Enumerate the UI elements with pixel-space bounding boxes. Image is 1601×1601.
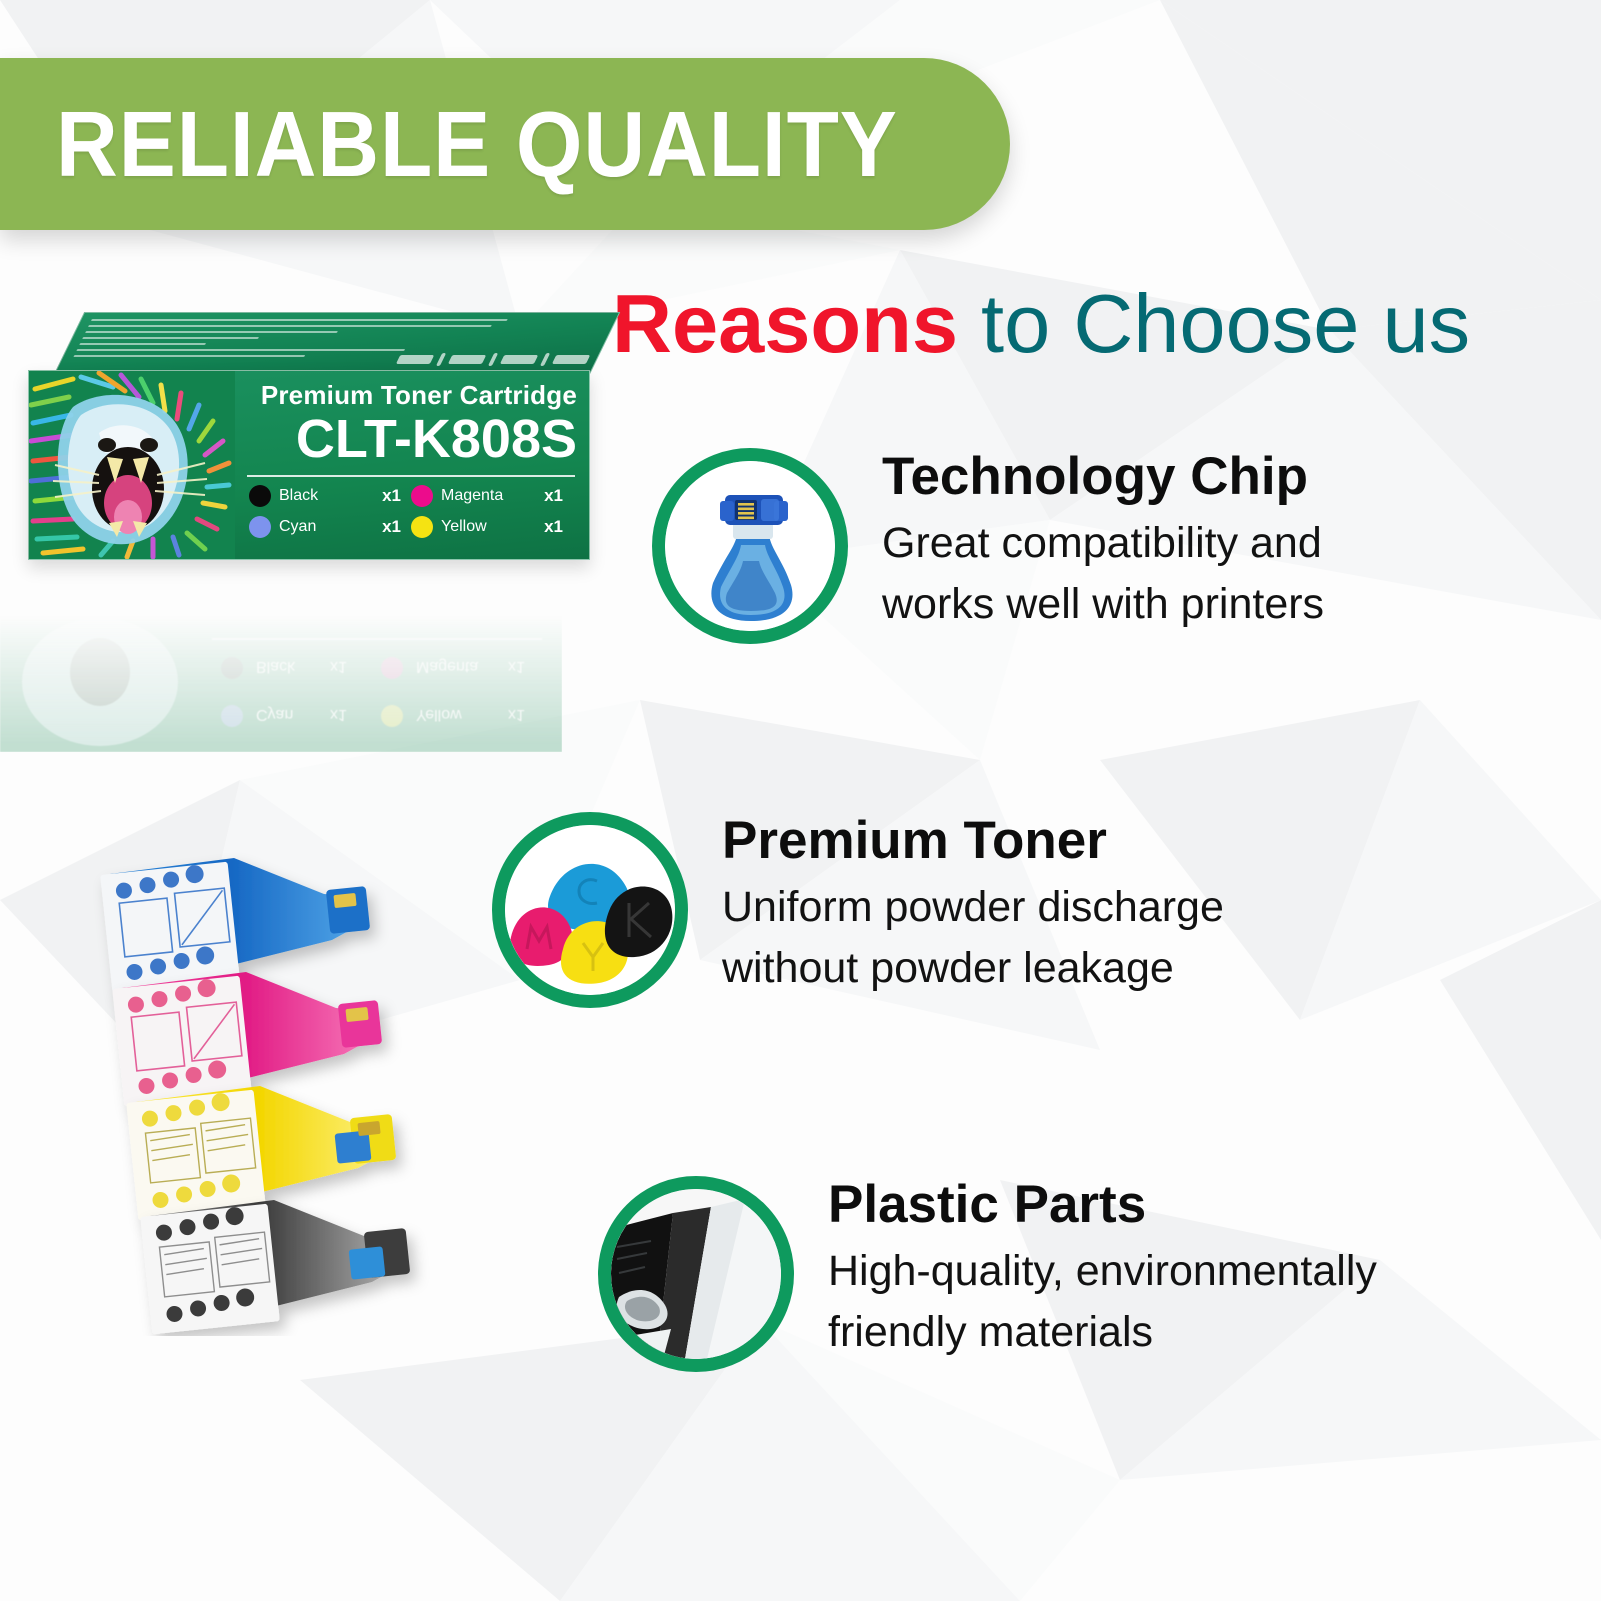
feature-plastic-parts: Plastic Parts High-quality, environmenta…: [598, 1176, 1377, 1372]
feature-description: Uniform powder discharge without powder …: [722, 877, 1224, 999]
bottle-cyan: [100, 858, 370, 992]
reliable-quality-banner: RELIABLE QUALITY: [0, 58, 1010, 230]
feature-desc-line: without powder leakage: [722, 938, 1224, 999]
swatch-item: Cyan x1: [249, 516, 411, 538]
feature-desc-line: High-quality, environmentally: [828, 1241, 1377, 1302]
color-name: Black: [279, 487, 318, 505]
swatch-item: Yellow x1: [411, 516, 573, 538]
box-color-list: Black x1 Magenta x1 Cyan x1: [245, 485, 577, 538]
feature-technology-chip: Technology Chip Great compatibility and …: [652, 448, 1324, 644]
swatch-item: Black x1: [249, 485, 411, 507]
banner-label: RELIABLE QUALITY: [56, 91, 898, 198]
box-text-area: Premium Toner Cartridge CLT-K808S Black …: [237, 371, 589, 559]
swatch-item: Magenta x1: [411, 485, 573, 507]
toner-bottles-photo: [86, 836, 486, 1336]
bottle-black: [140, 1200, 410, 1334]
promo-page: RELIABLE QUALITY Reasons to Choose us: [0, 0, 1601, 1601]
color-qty: x1: [544, 517, 573, 537]
color-dot-black: [249, 485, 271, 507]
color-name: Yellow: [441, 518, 487, 536]
color-dot-cyan: [249, 516, 271, 538]
feature-desc-line: works well with printers: [882, 574, 1324, 635]
page-title: Reasons to Choose us: [612, 282, 1470, 365]
cmyk-powder-icon: [492, 812, 688, 1008]
title-highlight: Reasons: [612, 277, 958, 370]
feature-desc-line: Great compatibility and: [882, 513, 1324, 574]
banner-shape: RELIABLE QUALITY: [0, 58, 1010, 230]
plastic-parts-icon: [598, 1176, 794, 1372]
feature-description: High-quality, environmentally friendly m…: [828, 1241, 1377, 1363]
toner-chip-icon: [652, 448, 848, 644]
feature-desc-line: friendly materials: [828, 1302, 1377, 1363]
product-box-image: Premium Toner Cartridge CLT-K808S Black …: [28, 312, 590, 602]
feature-premium-toner: Premium Toner Uniform powder discharge w…: [492, 812, 1224, 1008]
box-divider: [247, 475, 575, 477]
box-top-panel: [54, 312, 620, 374]
lion-artwork: [29, 371, 235, 559]
color-qty: x1: [544, 486, 573, 506]
bottle-yellow: [126, 1086, 396, 1220]
color-qty: x1: [382, 517, 411, 537]
color-name: Magenta: [441, 487, 503, 505]
box-front-panel: Premium Toner Cartridge CLT-K808S Black …: [28, 370, 590, 560]
title-rest: to Choose us: [958, 277, 1470, 370]
color-name: Cyan: [279, 518, 316, 536]
feature-desc-line: Uniform powder discharge: [722, 877, 1224, 938]
feature-title: Technology Chip: [882, 448, 1324, 505]
color-dot-yellow: [411, 516, 433, 538]
feature-description: Great compatibility and works well with …: [882, 513, 1324, 635]
color-dot-magenta: [411, 485, 433, 507]
feature-title: Plastic Parts: [828, 1176, 1377, 1233]
box-subtitle: Premium Toner Cartridge: [245, 381, 577, 410]
feature-title: Premium Toner: [722, 812, 1224, 869]
box-model-number: CLT-K808S: [245, 412, 577, 466]
color-qty: x1: [382, 486, 411, 506]
bottle-magenta: [112, 972, 382, 1106]
printer-compat-icons: [395, 353, 591, 366]
